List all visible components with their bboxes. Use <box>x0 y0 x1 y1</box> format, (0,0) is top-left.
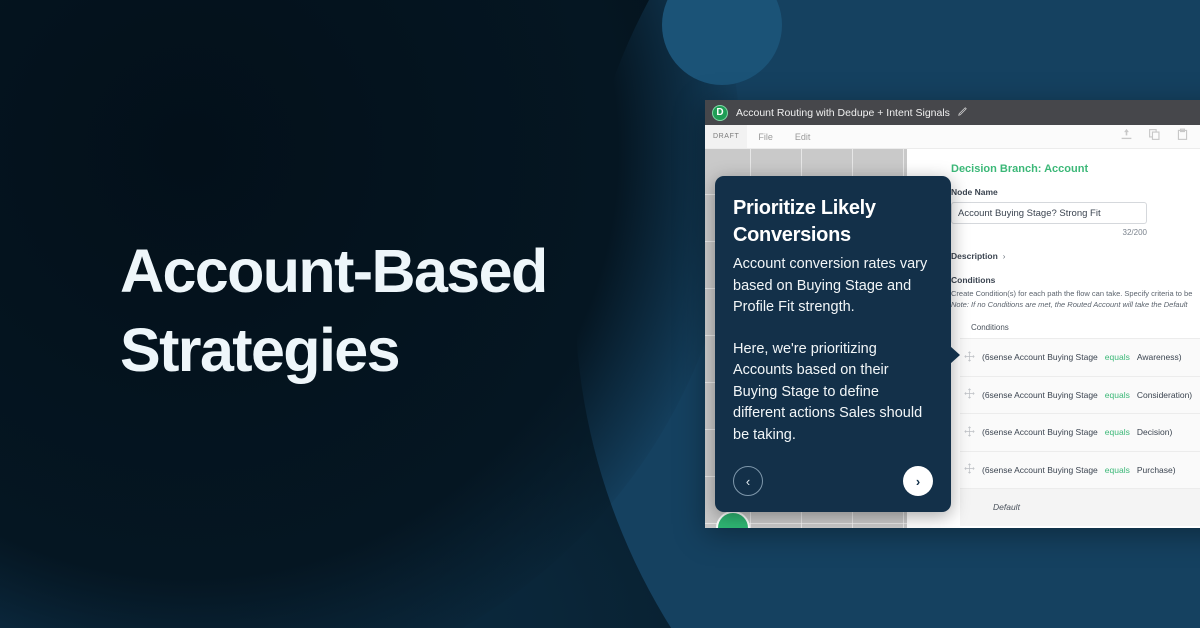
conditions-label: Conditions <box>951 275 1200 285</box>
status-badge: DRAFT <box>705 125 747 148</box>
tooltip-prev-button[interactable]: ‹ <box>733 466 763 496</box>
menu-file[interactable]: File <box>747 132 784 142</box>
node-name-input[interactable] <box>951 202 1147 224</box>
window-menubar: DRAFT File Edit <box>705 125 1200 149</box>
condition-prefix: (6sense Account Buying Stage <box>982 427 1098 437</box>
condition-operator: equals <box>1105 352 1130 362</box>
condition-value: Purchase) <box>1137 465 1176 475</box>
tooltip-next-button[interactable]: › <box>903 466 933 496</box>
conditions-note: Note: If no Conditions are met, the Rout… <box>951 299 1200 310</box>
paste-icon[interactable] <box>1176 128 1189 146</box>
drag-handle-icon[interactable] <box>964 388 975 401</box>
table-row[interactable]: (6sense Account Buying Stage equals Deci… <box>960 413 1200 451</box>
conditions-table-header: Conditions <box>960 319 1200 338</box>
flow-node-start[interactable] <box>716 511 750 528</box>
export-icon[interactable] <box>1120 128 1133 146</box>
config-panel: Decision Branch: Account Node Name 32/20… <box>937 149 1200 528</box>
app-logo-letter: D <box>716 108 723 118</box>
tooltip-paragraph-1: Account conversion rates vary based on B… <box>733 254 933 319</box>
coach-tooltip: Prioritize Likely Conversions Account co… <box>715 176 951 512</box>
description-section[interactable]: Description › <box>951 251 1200 261</box>
copy-icon[interactable] <box>1148 128 1161 146</box>
condition-operator: equals <box>1105 390 1130 400</box>
table-row[interactable]: (6sense Account Buying Stage equals Purc… <box>960 451 1200 489</box>
drag-handle-icon[interactable] <box>964 463 975 476</box>
node-name-label: Node Name <box>951 187 1200 197</box>
conditions-table: Conditions (6sense Account Buying Stage … <box>960 319 1200 526</box>
hero-headline: Account-Based Strategies <box>120 232 680 390</box>
chevron-right-icon: › <box>1003 252 1006 261</box>
condition-operator: equals <box>1105 465 1130 475</box>
condition-prefix: (6sense Account Buying Stage <box>982 390 1098 400</box>
condition-value: Consideration) <box>1137 390 1192 400</box>
headline-line-2: Strategies <box>120 311 680 390</box>
table-row[interactable]: (6sense Account Buying Stage equals Awar… <box>960 338 1200 376</box>
pencil-icon[interactable] <box>958 107 967 118</box>
drag-handle-icon[interactable] <box>964 351 975 364</box>
condition-value: Decision) <box>1137 427 1172 437</box>
window-titlebar: D Account Routing with Dedupe + Intent S… <box>705 100 1200 125</box>
tooltip-nav: ‹ › <box>733 466 933 496</box>
description-label: Description <box>951 251 998 261</box>
drag-handle-icon[interactable] <box>964 426 975 439</box>
tooltip-paragraph-2: Here, we're prioritizing Accounts based … <box>733 339 933 447</box>
flow-canvas[interactable]: Prioritize Likely Conversions Account co… <box>705 149 937 528</box>
app-window: D Account Routing with Dedupe + Intent S… <box>705 100 1200 528</box>
window-title: Account Routing with Dedupe + Intent Sig… <box>736 107 950 119</box>
panel-heading: Decision Branch: Account <box>951 163 1200 175</box>
node-name-char-count: 32/200 <box>951 228 1147 237</box>
table-row[interactable]: (6sense Account Buying Stage equals Cons… <box>960 376 1200 414</box>
condition-prefix: (6sense Account Buying Stage <box>982 465 1098 475</box>
condition-value: Awareness) <box>1137 352 1182 362</box>
workarea: Prioritize Likely Conversions Account co… <box>705 149 1200 528</box>
tooltip-title: Prioritize Likely Conversions <box>733 195 933 249</box>
condition-operator: equals <box>1105 427 1130 437</box>
toolbar <box>1120 125 1200 148</box>
app-logo-icon: D <box>712 105 728 121</box>
headline-line-1: Account-Based <box>120 232 680 311</box>
menu-edit[interactable]: Edit <box>784 132 822 142</box>
condition-prefix: (6sense Account Buying Stage <box>982 352 1098 362</box>
table-row-default[interactable]: Default <box>960 488 1200 526</box>
conditions-description: Create Condition(s) for each path the fl… <box>951 288 1200 299</box>
